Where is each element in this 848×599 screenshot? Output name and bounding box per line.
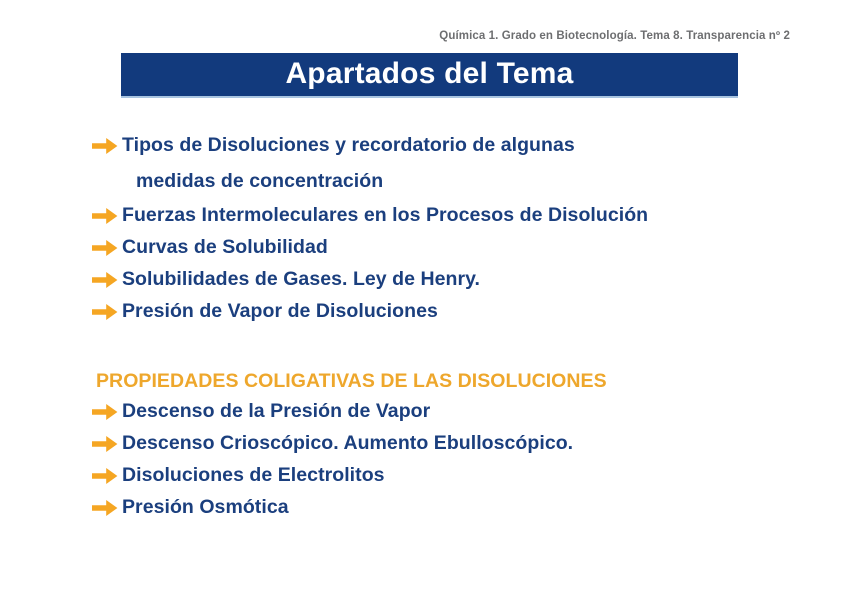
arrow-right-icon	[92, 299, 122, 321]
list-item-label: Descenso Crioscópico. Aumento Ebulloscóp…	[122, 431, 812, 456]
list-item-line-1: Tipos de Disoluciones y recordatorio de …	[122, 134, 575, 156]
arrow-right-icon	[92, 463, 122, 485]
arrow-right-icon	[92, 203, 122, 225]
list-item: Descenso Crioscópico. Aumento Ebulloscóp…	[92, 431, 812, 456]
list-item-label: Disoluciones de Electrolitos	[122, 463, 812, 488]
arrow-right-icon	[92, 267, 122, 289]
list-item: Tipos de Disoluciones y recordatorio de …	[92, 133, 812, 194]
list-item-label: Presión Osmótica	[122, 495, 812, 520]
list-item-label: Solubilidades de Gases. Ley de Henry.	[122, 267, 812, 292]
slide-header-note: Química 1. Grado en Biotecnología. Tema …	[0, 30, 790, 42]
arrow-right-icon	[92, 399, 122, 421]
list-item: Presión de Vapor de Disoluciones	[92, 299, 812, 324]
arrow-right-icon	[92, 495, 122, 517]
list-item-label: Curvas de Solubilidad	[122, 235, 812, 260]
section-heading: PROPIEDADES COLIGATIVAS DE LAS DISOLUCIO…	[96, 369, 812, 394]
list-item-label: Presión de Vapor de Disoluciones	[122, 299, 812, 324]
list-item-line-2: medidas de concentración	[122, 169, 812, 194]
slide-canvas: Química 1. Grado en Biotecnología. Tema …	[0, 0, 848, 599]
list-item: Disoluciones de Electrolitos	[92, 463, 812, 488]
list-item: Descenso de la Presión de Vapor	[92, 399, 812, 424]
list-item: Solubilidades de Gases. Ley de Henry.	[92, 267, 812, 292]
list-item: Fuerzas Intermoleculares en los Procesos…	[92, 203, 812, 228]
arrow-right-icon	[92, 235, 122, 257]
arrow-right-icon	[92, 431, 122, 453]
list-item-label: Tipos de Disoluciones y recordatorio de …	[122, 133, 812, 194]
title-banner: Apartados del Tema	[121, 53, 738, 98]
content-list: Tipos de Disoluciones y recordatorio de …	[92, 133, 812, 527]
page-title: Apartados del Tema	[285, 59, 573, 91]
section-spacer	[92, 331, 812, 369]
list-item: Curvas de Solubilidad	[92, 235, 812, 260]
list-item: Presión Osmótica	[92, 495, 812, 520]
list-item-label: Fuerzas Intermoleculares en los Procesos…	[122, 203, 812, 228]
arrow-right-icon	[92, 133, 122, 155]
list-item-label: Descenso de la Presión de Vapor	[122, 399, 812, 424]
